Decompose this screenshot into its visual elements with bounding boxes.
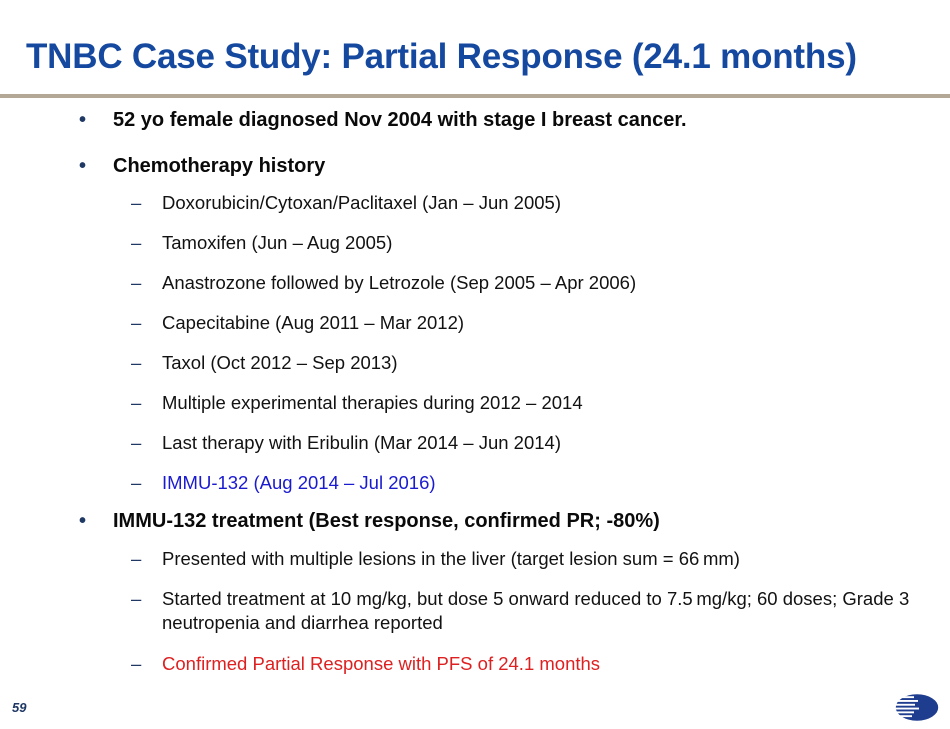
spacer (0, 295, 950, 311)
bullet-diagnosis-text: 52 yo female diagnosed Nov 2004 with sta… (113, 109, 687, 131)
list-item-text: Confirmed Partial Response with PFS of 2… (162, 653, 600, 674)
list-item-text: Capecitabine (Aug 2011 – Mar 2012) (162, 312, 464, 333)
bullet-dot-icon: • (79, 509, 86, 534)
spacer (0, 534, 950, 547)
bullet-immu132-treatment: • IMMU-132 treatment (Best response, con… (0, 509, 950, 534)
spacer (0, 215, 950, 231)
spacer (0, 455, 950, 471)
list-item: – Doxorubicin/Cytoxan/Paclitaxel (Jan – … (0, 191, 950, 215)
bullet-immu132-treatment-text: IMMU-132 treatment (Best response, confi… (113, 510, 660, 532)
bullet-diagnosis: • 52 yo female diagnosed Nov 2004 with s… (0, 108, 950, 133)
dash-marker-icon: – (131, 587, 141, 611)
list-item-text: Taxol (Oct 2012 – Sep 2013) (162, 352, 398, 373)
dash-marker-icon: – (131, 191, 141, 215)
list-item-text: Last therapy with Eribulin (Mar 2014 – J… (162, 432, 561, 453)
bullet-chemotherapy-history-text: Chemotherapy history (113, 155, 325, 177)
list-item-text: Started treatment at 10 mg/kg, but dose … (162, 588, 909, 633)
dash-marker-icon: – (131, 311, 141, 335)
page-number: 59 (12, 700, 26, 715)
dash-marker-icon: – (131, 351, 141, 375)
list-item-text: Anastrozone followed by Letrozole (Sep 2… (162, 272, 636, 293)
spacer (0, 415, 950, 431)
bullet-dot-icon: • (79, 108, 86, 133)
spacer (0, 179, 950, 191)
list-item: – Capecitabine (Aug 2011 – Mar 2012) (0, 311, 950, 335)
slide-body: • 52 yo female diagnosed Nov 2004 with s… (0, 108, 950, 676)
list-item-text: Presented with multiple lesions in the l… (162, 548, 740, 569)
list-item-confirmed-pr: – Confirmed Partial Response with PFS of… (0, 652, 950, 676)
spacer (0, 571, 950, 587)
spacer (0, 133, 950, 154)
list-item-text: IMMU-132 (Aug 2014 – Jul 2016) (162, 472, 436, 493)
spacer (0, 636, 950, 652)
bullet-chemotherapy-history: • Chemotherapy history (0, 154, 950, 179)
dash-marker-icon: – (131, 652, 141, 676)
list-item-text: Tamoxifen (Jun – Aug 2005) (162, 232, 392, 253)
list-item: – Anastrozone followed by Letrozole (Sep… (0, 271, 950, 295)
slide-title: TNBC Case Study: Partial Response (24.1 … (26, 37, 926, 76)
list-item: – Tamoxifen (Jun – Aug 2005) (0, 231, 950, 255)
dash-marker-icon: – (131, 271, 141, 295)
dash-marker-icon: – (131, 471, 141, 495)
list-item: – Presented with multiple lesions in the… (0, 547, 950, 571)
list-item: – Last therapy with Eribulin (Mar 2014 –… (0, 431, 950, 455)
dash-marker-icon: – (131, 391, 141, 415)
list-item-immu132: – IMMU-132 (Aug 2014 – Jul 2016) (0, 471, 950, 495)
dash-marker-icon: – (131, 431, 141, 455)
spacer (0, 375, 950, 391)
list-item-text: Doxorubicin/Cytoxan/Paclitaxel (Jan – Ju… (162, 192, 561, 213)
title-divider (0, 94, 950, 98)
immunomedics-logo-icon (893, 692, 941, 723)
presentation-slide: TNBC Case Study: Partial Response (24.1 … (0, 0, 950, 729)
spacer (0, 335, 950, 351)
spacer (0, 495, 950, 509)
list-item: – Multiple experimental therapies during… (0, 391, 950, 415)
list-item: – Taxol (Oct 2012 – Sep 2013) (0, 351, 950, 375)
dash-marker-icon: – (131, 547, 141, 571)
list-item-text: Multiple experimental therapies during 2… (162, 392, 583, 413)
bullet-dot-icon: • (79, 154, 86, 179)
spacer (0, 255, 950, 271)
dash-marker-icon: – (131, 231, 141, 255)
list-item: – Started treatment at 10 mg/kg, but dos… (0, 587, 950, 635)
